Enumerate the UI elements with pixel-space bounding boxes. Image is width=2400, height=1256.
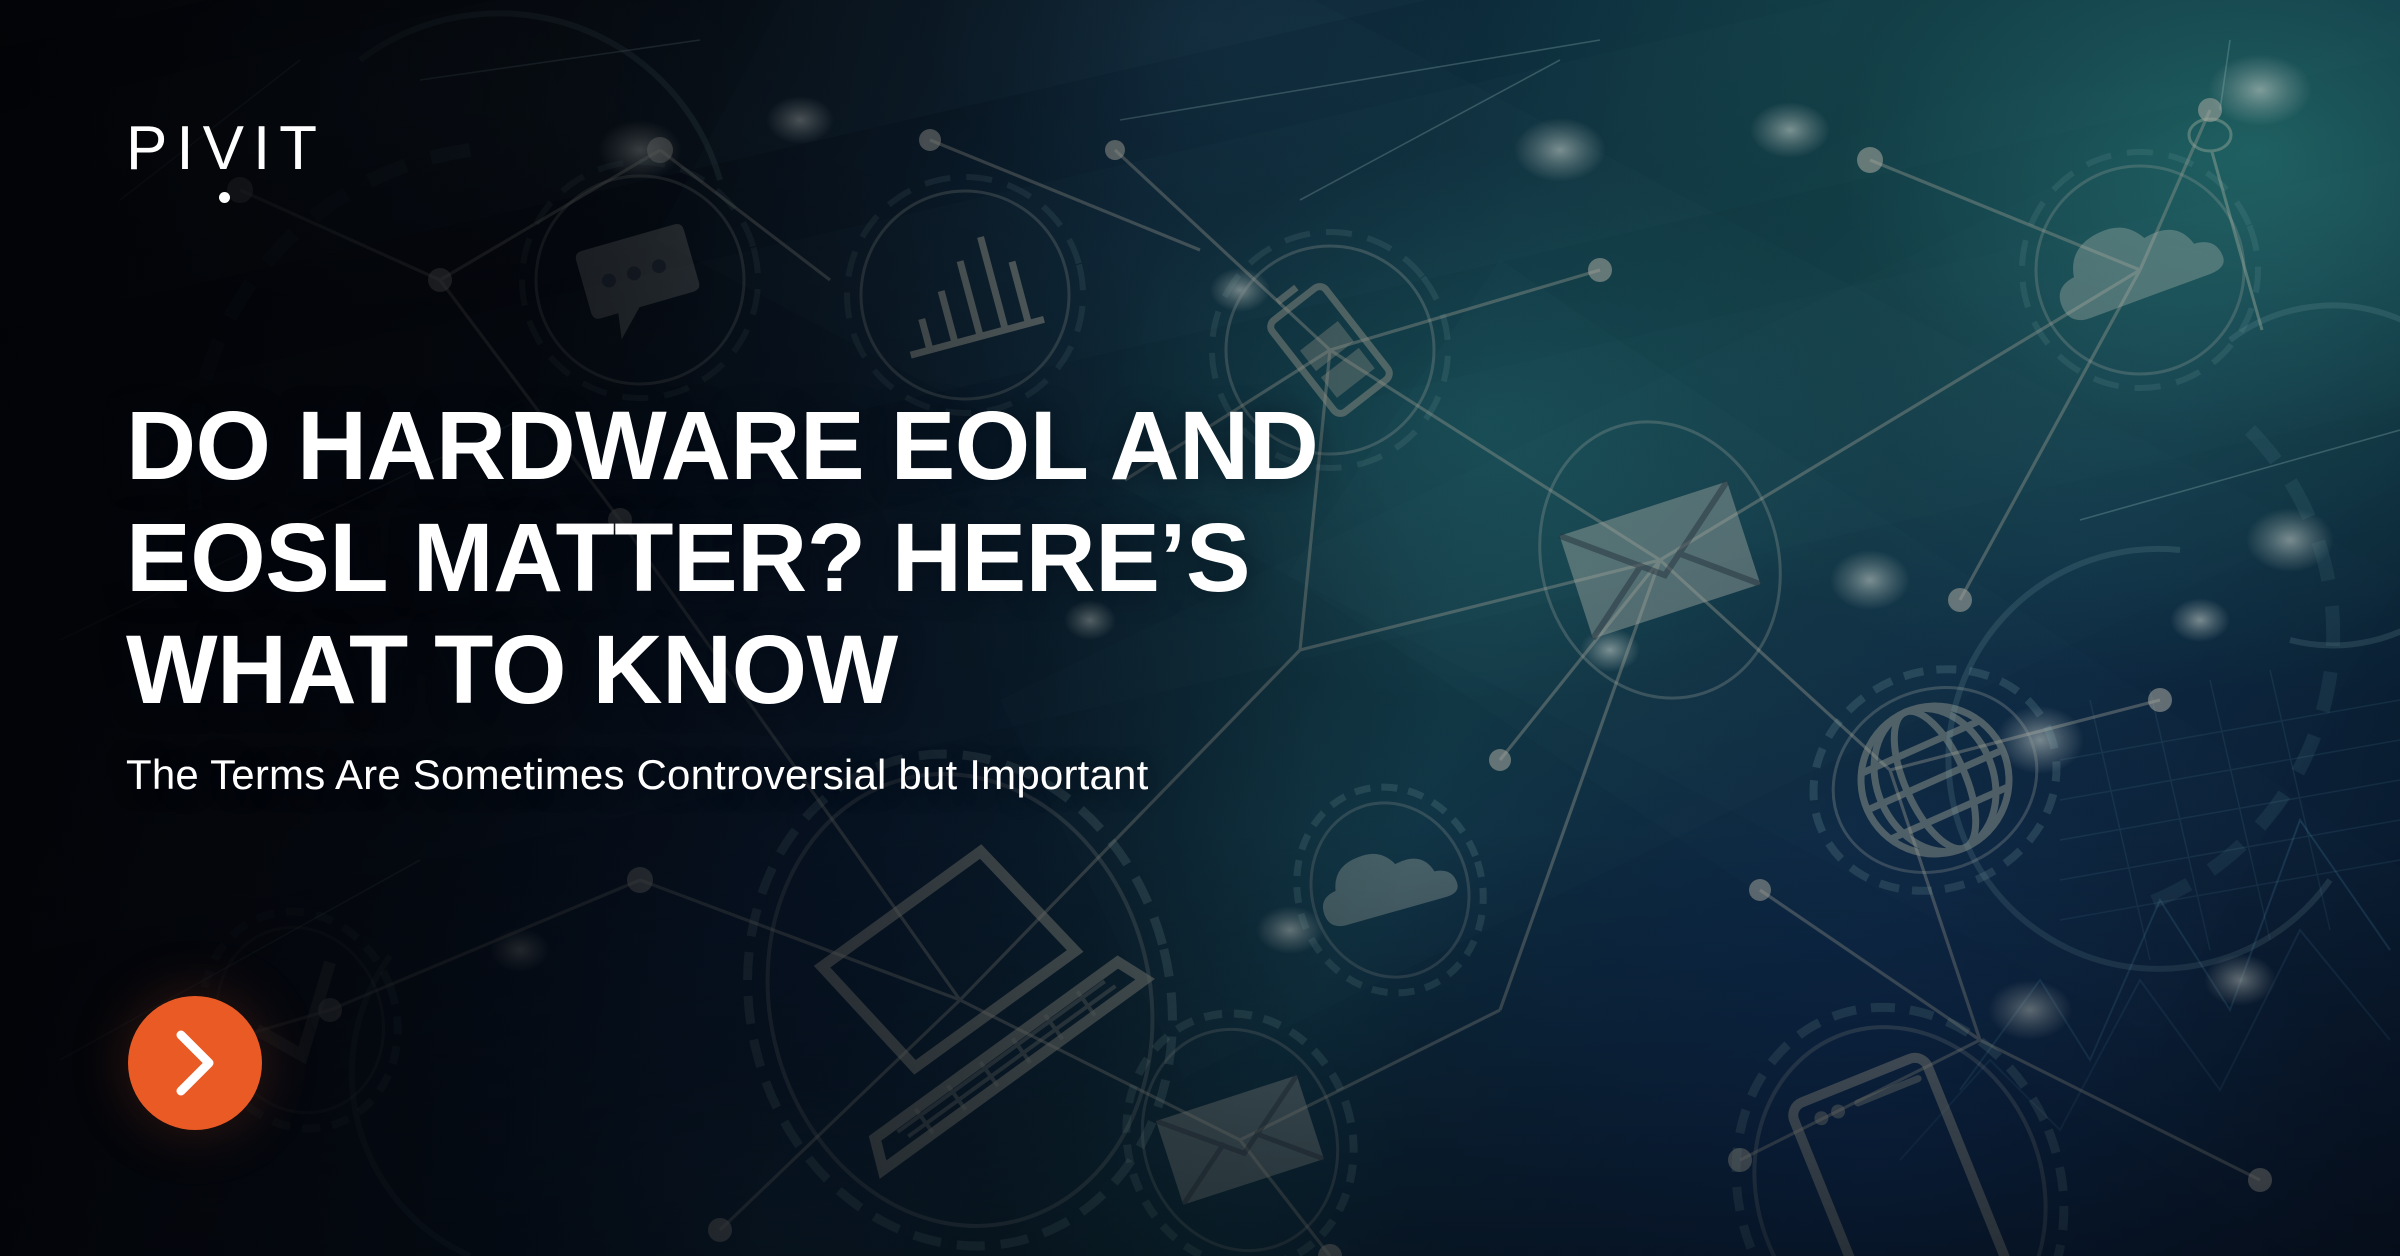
read-more-button[interactable] <box>128 996 262 1130</box>
logo-letter-v: V <box>203 118 253 180</box>
headline-line-1: DO HARDWARE EOL AND <box>126 391 1318 500</box>
hero-banner: PIVIT DO HARDWARE EOL AND EOSL MATTER? H… <box>0 0 2400 1256</box>
headline-line-2: EOSL MATTER? HERE’S <box>126 503 1250 612</box>
pivit-logo[interactable]: PIVIT <box>126 118 326 180</box>
headline-line-3: WHAT TO KNOW <box>126 615 898 724</box>
page-subtitle: The Terms Are Sometimes Controversial bu… <box>126 750 1149 800</box>
logo-text-part2: IT <box>253 114 326 183</box>
logo-letter-v-glyph: V <box>203 114 253 183</box>
logo-dot <box>219 192 230 203</box>
page-title: DO HARDWARE EOL AND EOSL MATTER? HERE’S … <box>126 390 1546 726</box>
hero-content: PIVIT DO HARDWARE EOL AND EOSL MATTER? H… <box>0 0 2400 1256</box>
logo-text-part1: PI <box>126 114 203 183</box>
chevron-right-icon <box>169 1027 221 1099</box>
